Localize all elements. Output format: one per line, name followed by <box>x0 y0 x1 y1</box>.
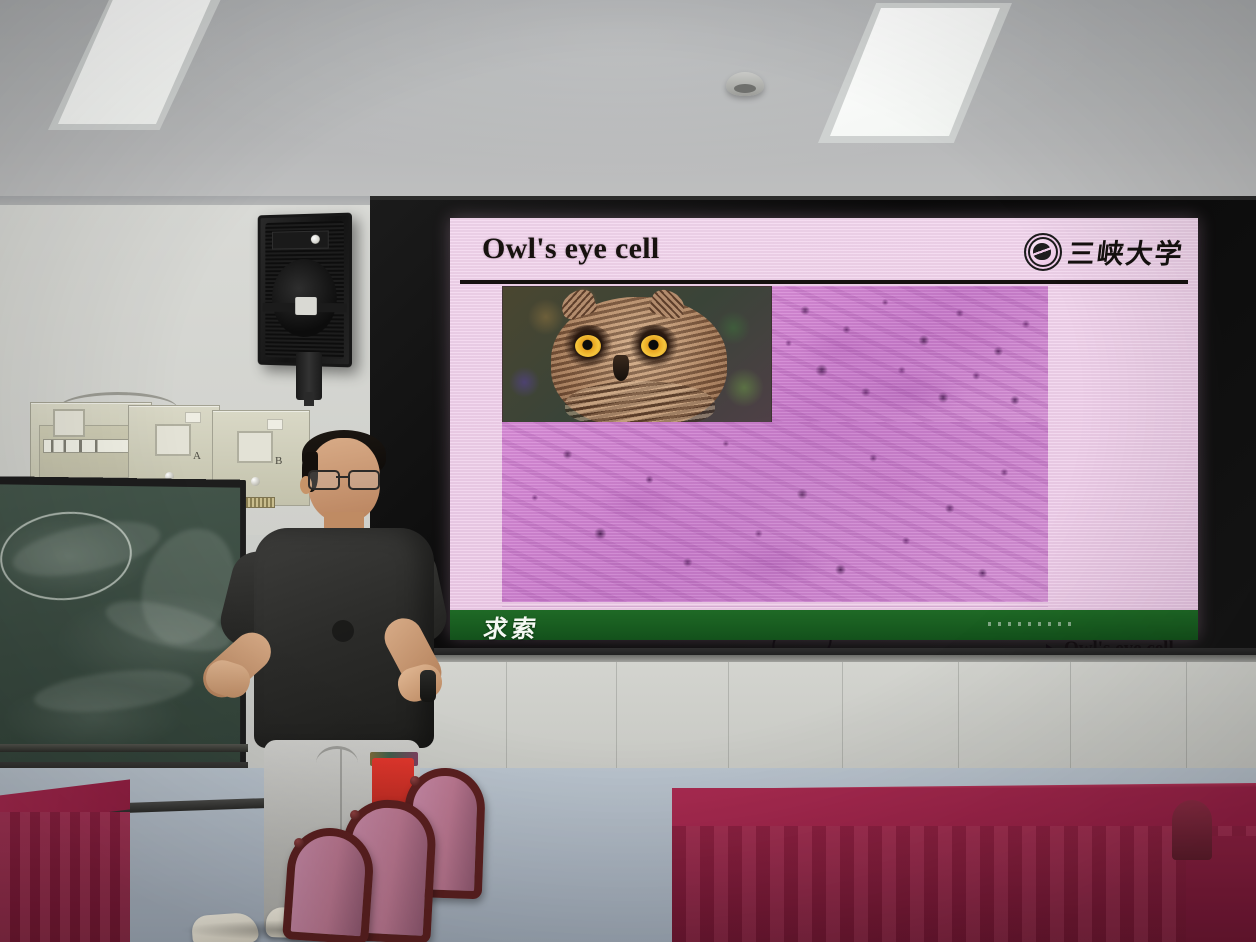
slide-header: Owl's eye cell 三峡大学 <box>450 224 1198 280</box>
owl-face-photo <box>502 286 772 424</box>
footer-decoration-dots <box>988 622 1078 626</box>
chair-knob <box>294 838 304 848</box>
smoke-detector-icon <box>726 72 764 96</box>
speaker-brand-badge <box>295 297 317 315</box>
panel-seam <box>1070 662 1071 784</box>
breaker-row-upper <box>43 439 133 453</box>
chair-far-right[interactable] <box>1172 800 1212 860</box>
cabinet-a-sticker <box>185 412 201 423</box>
speaker-tweeter <box>272 230 329 249</box>
owl-eye-left <box>575 335 601 357</box>
speaker-mount-pole <box>304 392 314 406</box>
panel-seam <box>506 662 507 784</box>
owl-beak <box>613 355 629 381</box>
conference-table-right-skirt <box>672 826 1256 942</box>
cabinet-a-meter-window <box>155 424 191 456</box>
wall-paneling <box>410 662 1256 784</box>
panel-seam <box>958 662 959 784</box>
slide-title: Owl's eye cell <box>482 232 659 266</box>
led-scanline-overlay-top <box>772 286 1048 422</box>
panel-seam <box>842 662 843 784</box>
university-motto: 求索 <box>482 609 543 644</box>
title-underline-rule <box>460 280 1188 284</box>
university-name-cn: 三峡大学 <box>1066 232 1187 271</box>
conference-table-left-skirt <box>0 812 130 942</box>
pa-speaker <box>258 213 352 368</box>
eyeglass-lens-left <box>308 470 340 490</box>
owl-eye-right <box>641 335 667 357</box>
panel-seam <box>728 662 729 784</box>
slide-footer-bar: 求索 <box>450 610 1198 640</box>
presenter-eyeglasses <box>308 470 378 486</box>
chalk-smear <box>32 663 195 718</box>
owl-breast-feathers <box>565 381 715 424</box>
panel-seam <box>1186 662 1187 784</box>
cabinet-b-sticker <box>267 419 283 430</box>
histology-micrograph-main <box>502 422 1048 602</box>
institution-logo: 三峡大学 <box>1024 232 1184 271</box>
lecture-hall-photo: A B Owl's eye cell <box>0 0 1256 942</box>
tshirt-graphic <box>332 620 354 642</box>
slide-faint-line-upper <box>502 606 1048 607</box>
presentation-slide[interactable]: Owl's eye cell 三峡大学 <box>450 218 1198 638</box>
presenter-clicker-remote[interactable] <box>420 670 436 702</box>
panel-seam <box>616 662 617 784</box>
eyeglass-bridge <box>336 476 348 478</box>
led-scanline-overlay-main <box>502 422 1048 602</box>
chair-knob <box>350 810 360 820</box>
eyeglass-lens-right <box>348 470 380 490</box>
histology-micrograph-top <box>772 286 1048 422</box>
university-emblem-icon <box>1024 233 1062 271</box>
cabinet-meter-window <box>53 409 85 437</box>
chair-knob <box>410 776 420 786</box>
